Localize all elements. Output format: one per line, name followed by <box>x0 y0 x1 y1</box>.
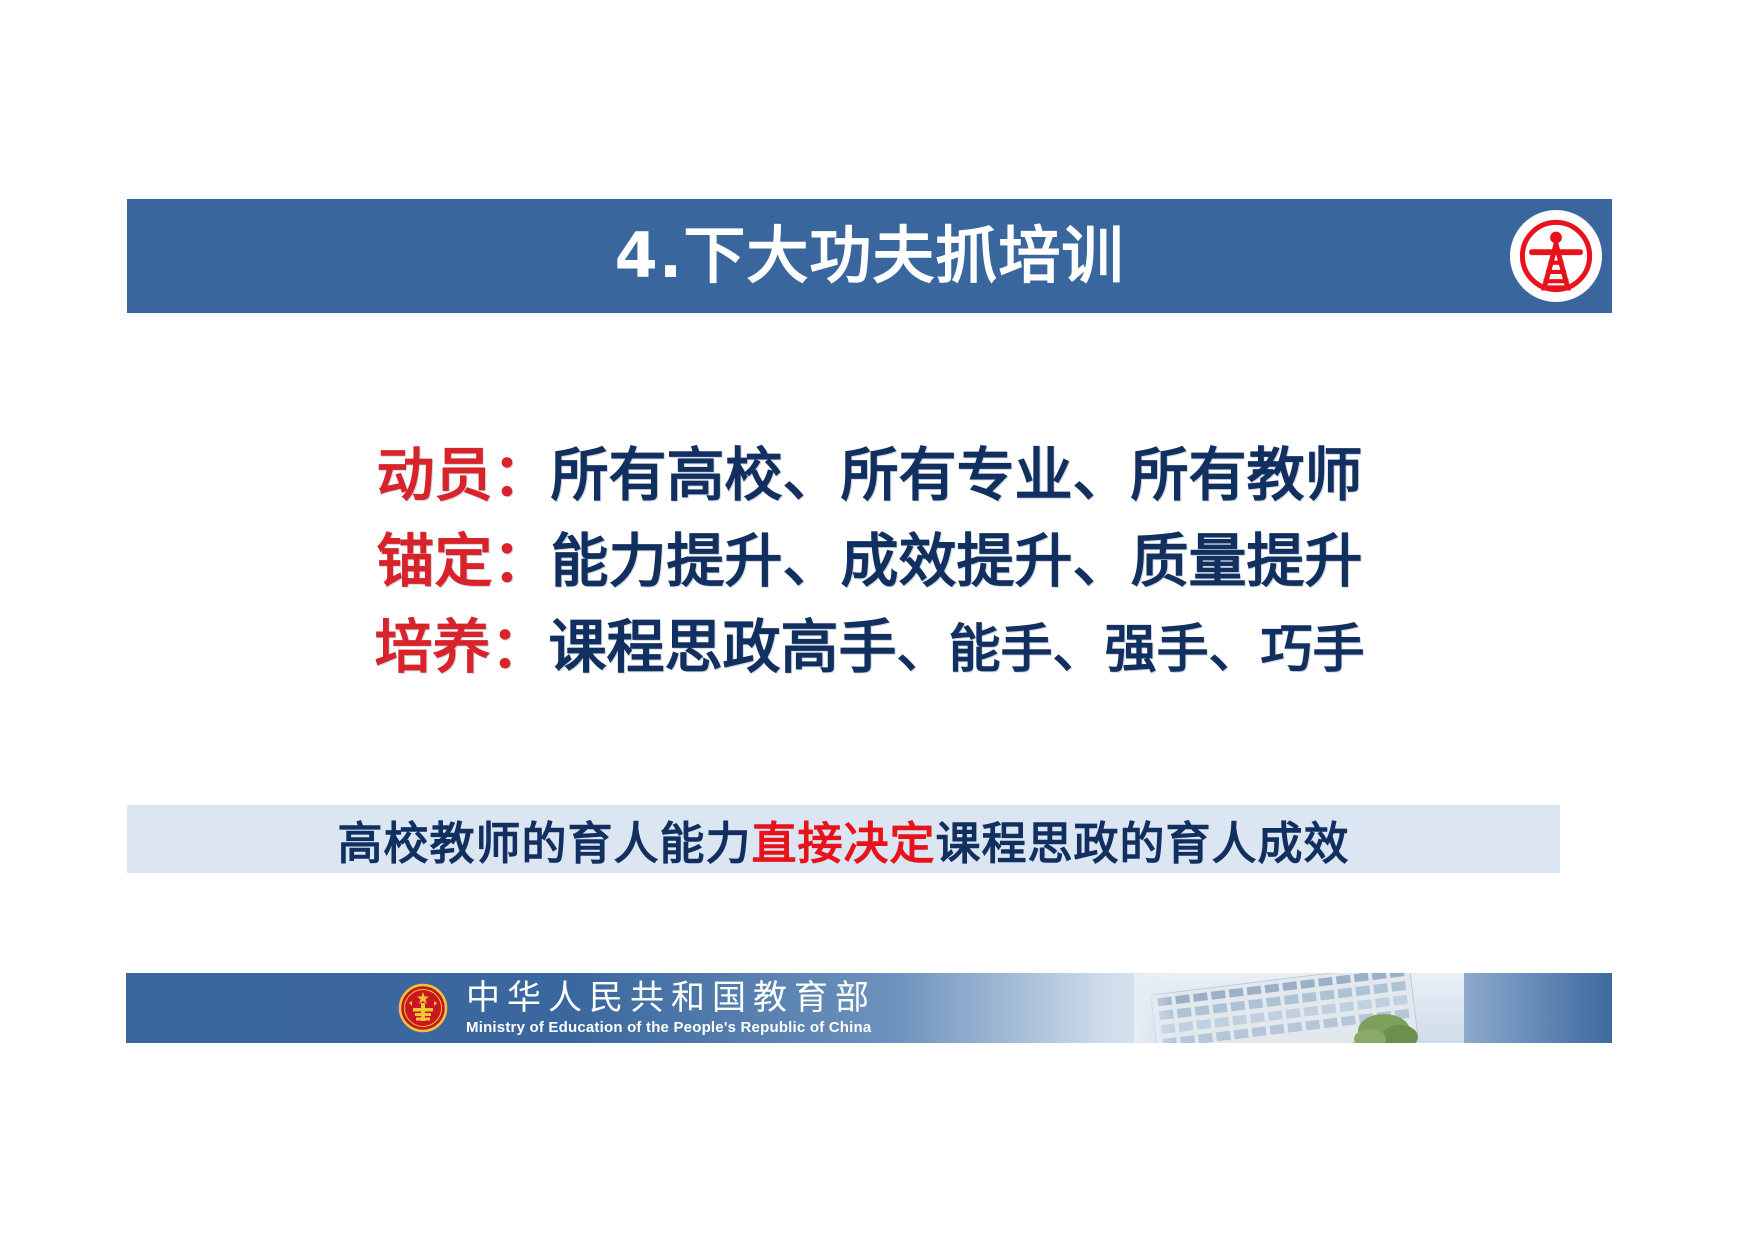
page-title: 4.下大功夫抓培训 <box>615 225 1125 287</box>
body-line-2: 锚定：能力提升、成效提升、质量提升 <box>127 518 1612 604</box>
red-circular-emblem-icon <box>1514 214 1598 298</box>
ministry-building-photo <box>1134 973 1464 1043</box>
slide-footer-bar: 中华人民共和国教育部 Ministry of Education of the … <box>126 973 1612 1043</box>
body-line-2-rest: 能力提升、成效提升、质量提升 <box>551 527 1363 595</box>
body-line-3-lead: 培养： <box>374 613 548 681</box>
highlight-suffix: 课程思政的育人成效 <box>936 817 1350 870</box>
footer-inner: 中华人民共和国教育部 Ministry of Education of the … <box>126 973 1612 1043</box>
slide-header-bar: 4.下大功夫抓培训 <box>127 199 1612 313</box>
footer-org-cn: 中华人民共和国教育部 <box>466 980 876 1017</box>
footer-org-en: Ministry of Education of the People's Re… <box>466 1020 876 1036</box>
body-line-3-rest-small: 、能手、强手、巧手 <box>897 620 1365 680</box>
china-national-emblem-icon <box>398 983 448 1033</box>
body-line-1: 动员：所有高校、所有专业、所有教师 <box>127 432 1612 518</box>
body-text-block: 动员：所有高校、所有专业、所有教师 锚定：能力提升、成效提升、质量提升 培养：课… <box>127 432 1612 693</box>
body-line-3-rest: 课程思政高手 <box>548 613 896 681</box>
header-logo <box>1510 210 1602 302</box>
body-line-1-lead: 动员： <box>376 441 550 509</box>
body-line-3: 培养：课程思政高手、能手、强手、巧手 <box>127 604 1612 693</box>
highlight-band: 高校教师的育人能力直接决定课程思政的育人成效 <box>127 805 1560 873</box>
slide-canvas: 4.下大功夫抓培训 动员：所有高校、所有专业、所有教师 锚定：能力提升、成效提升… <box>0 0 1755 1241</box>
body-line-1-rest: 所有高校、所有专业、所有教师 <box>551 441 1363 509</box>
highlight-emphasis: 直接决定 <box>751 817 935 870</box>
footer-org-texts: 中华人民共和国教育部 Ministry of Education of the … <box>466 980 876 1036</box>
body-line-2-lead: 锚定： <box>376 527 550 595</box>
highlight-prefix: 高校教师的育人能力 <box>337 817 751 870</box>
highlight-text: 高校教师的育人能力直接决定课程思政的育人成效 <box>337 807 1349 872</box>
